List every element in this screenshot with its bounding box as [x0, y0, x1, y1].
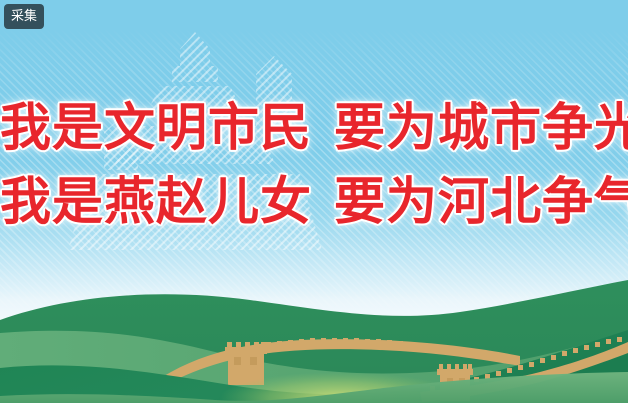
headline-line-2: 我是燕赵儿女要为河北争气 — [0, 166, 628, 240]
headline-line-1-left: 我是文明市民 — [0, 99, 312, 158]
headline-line-1-right: 要为城市争光 — [334, 99, 628, 158]
headline-block: 我是文明市民要为城市争光 我是燕赵儿女要为河北争气 — [0, 92, 628, 240]
headline-line-2-right: 要为河北争气 — [334, 173, 628, 232]
headline-line-2-left: 我是燕赵儿女 — [0, 173, 312, 232]
poster-image: 我是文明市民要为城市争光 我是燕赵儿女要为河北争气 采集 — [0, 0, 628, 403]
capture-button[interactable]: 采集 — [4, 4, 44, 29]
headline-line-1: 我是文明市民要为城市争光 — [0, 92, 628, 166]
